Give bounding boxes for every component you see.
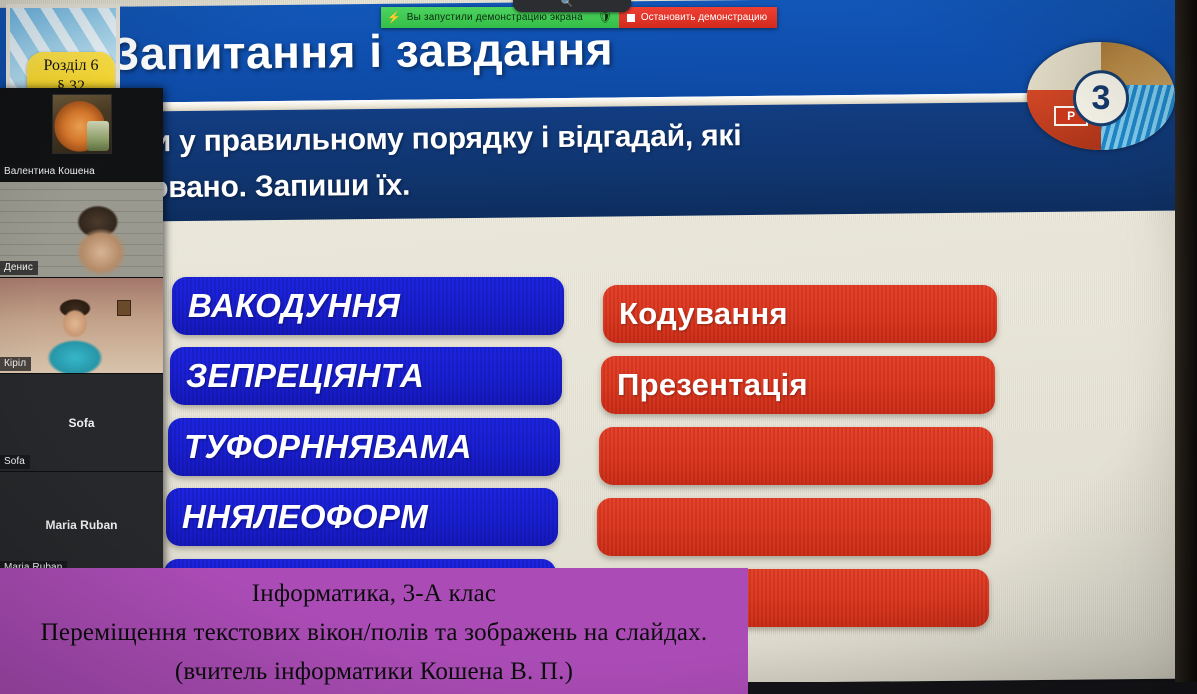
scrambled-card-2[interactable]: ЗЕПРЕЦІЯНТА xyxy=(170,347,562,405)
screenshot-root: Запитання і завдання Постав букви у прав… xyxy=(0,0,1197,694)
participant-tile-sofa[interactable]: Sofa Sofa xyxy=(0,374,163,472)
participant-name: Валентина Кошена xyxy=(0,165,100,179)
share-status-label: Вы запустили демонстрацию экрана xyxy=(407,12,583,23)
answer-card-2[interactable]: Презентація xyxy=(601,356,995,414)
slide-number: 3 xyxy=(1073,70,1129,126)
slide-instruction-text: Постав букви у правильному порядку і від… xyxy=(0,108,1197,213)
scrambled-card-1[interactable]: ВАКОДУННЯ xyxy=(172,277,564,335)
participant-name: Кіріл xyxy=(0,357,31,371)
answer-card-1[interactable]: Кодування xyxy=(603,285,997,343)
scrambled-card-4[interactable]: ННЯЛЕОФОРМ xyxy=(166,488,558,546)
textbook-thumbnail: Розділ 6 § 32 xyxy=(6,4,120,96)
answer-card-4[interactable] xyxy=(597,498,991,556)
stop-share-label: Остановить демонстрацию xyxy=(641,12,767,23)
room-shadow-edge xyxy=(748,682,1197,694)
answer-card-3[interactable] xyxy=(599,427,993,485)
participant-tile-kiril[interactable]: Кіріл xyxy=(0,278,163,374)
display-bezel-right xyxy=(1175,0,1197,694)
caption-line-1: Інформатика, 3-А клас xyxy=(0,574,748,613)
participant-name: Денис xyxy=(0,261,38,275)
participant-center-label: Sofa xyxy=(0,416,163,430)
stop-square-icon xyxy=(627,14,635,22)
search-icon[interactable]: 🔍 xyxy=(561,0,573,8)
bolt-icon: ⚡ xyxy=(387,11,401,24)
powerpoint-slide-number-badge: P 3 xyxy=(1027,42,1175,150)
participant-center-label: Maria Ruban xyxy=(0,518,163,532)
stop-share-button[interactable]: Остановить демонстрацию xyxy=(619,7,777,28)
participant-tile-maria-ruban[interactable]: Maria Ruban Maria Ruban xyxy=(0,472,163,578)
slide-instruction-band: Постав букви у правильному порядку і від… xyxy=(0,100,1197,223)
caption-line-3: (вчитель інформатики Кошена В. П.) xyxy=(0,652,748,691)
participant-tile-denis[interactable]: Денис xyxy=(0,182,163,278)
scrambled-card-3[interactable]: ТУФОРННЯВАМА xyxy=(168,418,560,476)
participant-filmstrip[interactable]: Валентина Кошена Денис Кіріл Sofa Sofa M… xyxy=(0,88,163,582)
zoom-controls-pill[interactable]: 🔍 xyxy=(513,0,631,12)
caption-line-2: Переміщення текстових вікон/полів та зоб… xyxy=(0,613,748,652)
slide-title: Запитання і завдання xyxy=(110,21,613,80)
avatar xyxy=(52,94,112,154)
lesson-caption-banner: Інформатика, 3-А клас Переміщення тексто… xyxy=(0,568,748,694)
section-badge-line-1: Розділ 6 xyxy=(27,55,115,76)
picture-frame-decor xyxy=(117,300,131,316)
participant-tile-valentina[interactable]: Валентина Кошена xyxy=(0,88,163,182)
participant-name: Sofa xyxy=(0,455,30,469)
